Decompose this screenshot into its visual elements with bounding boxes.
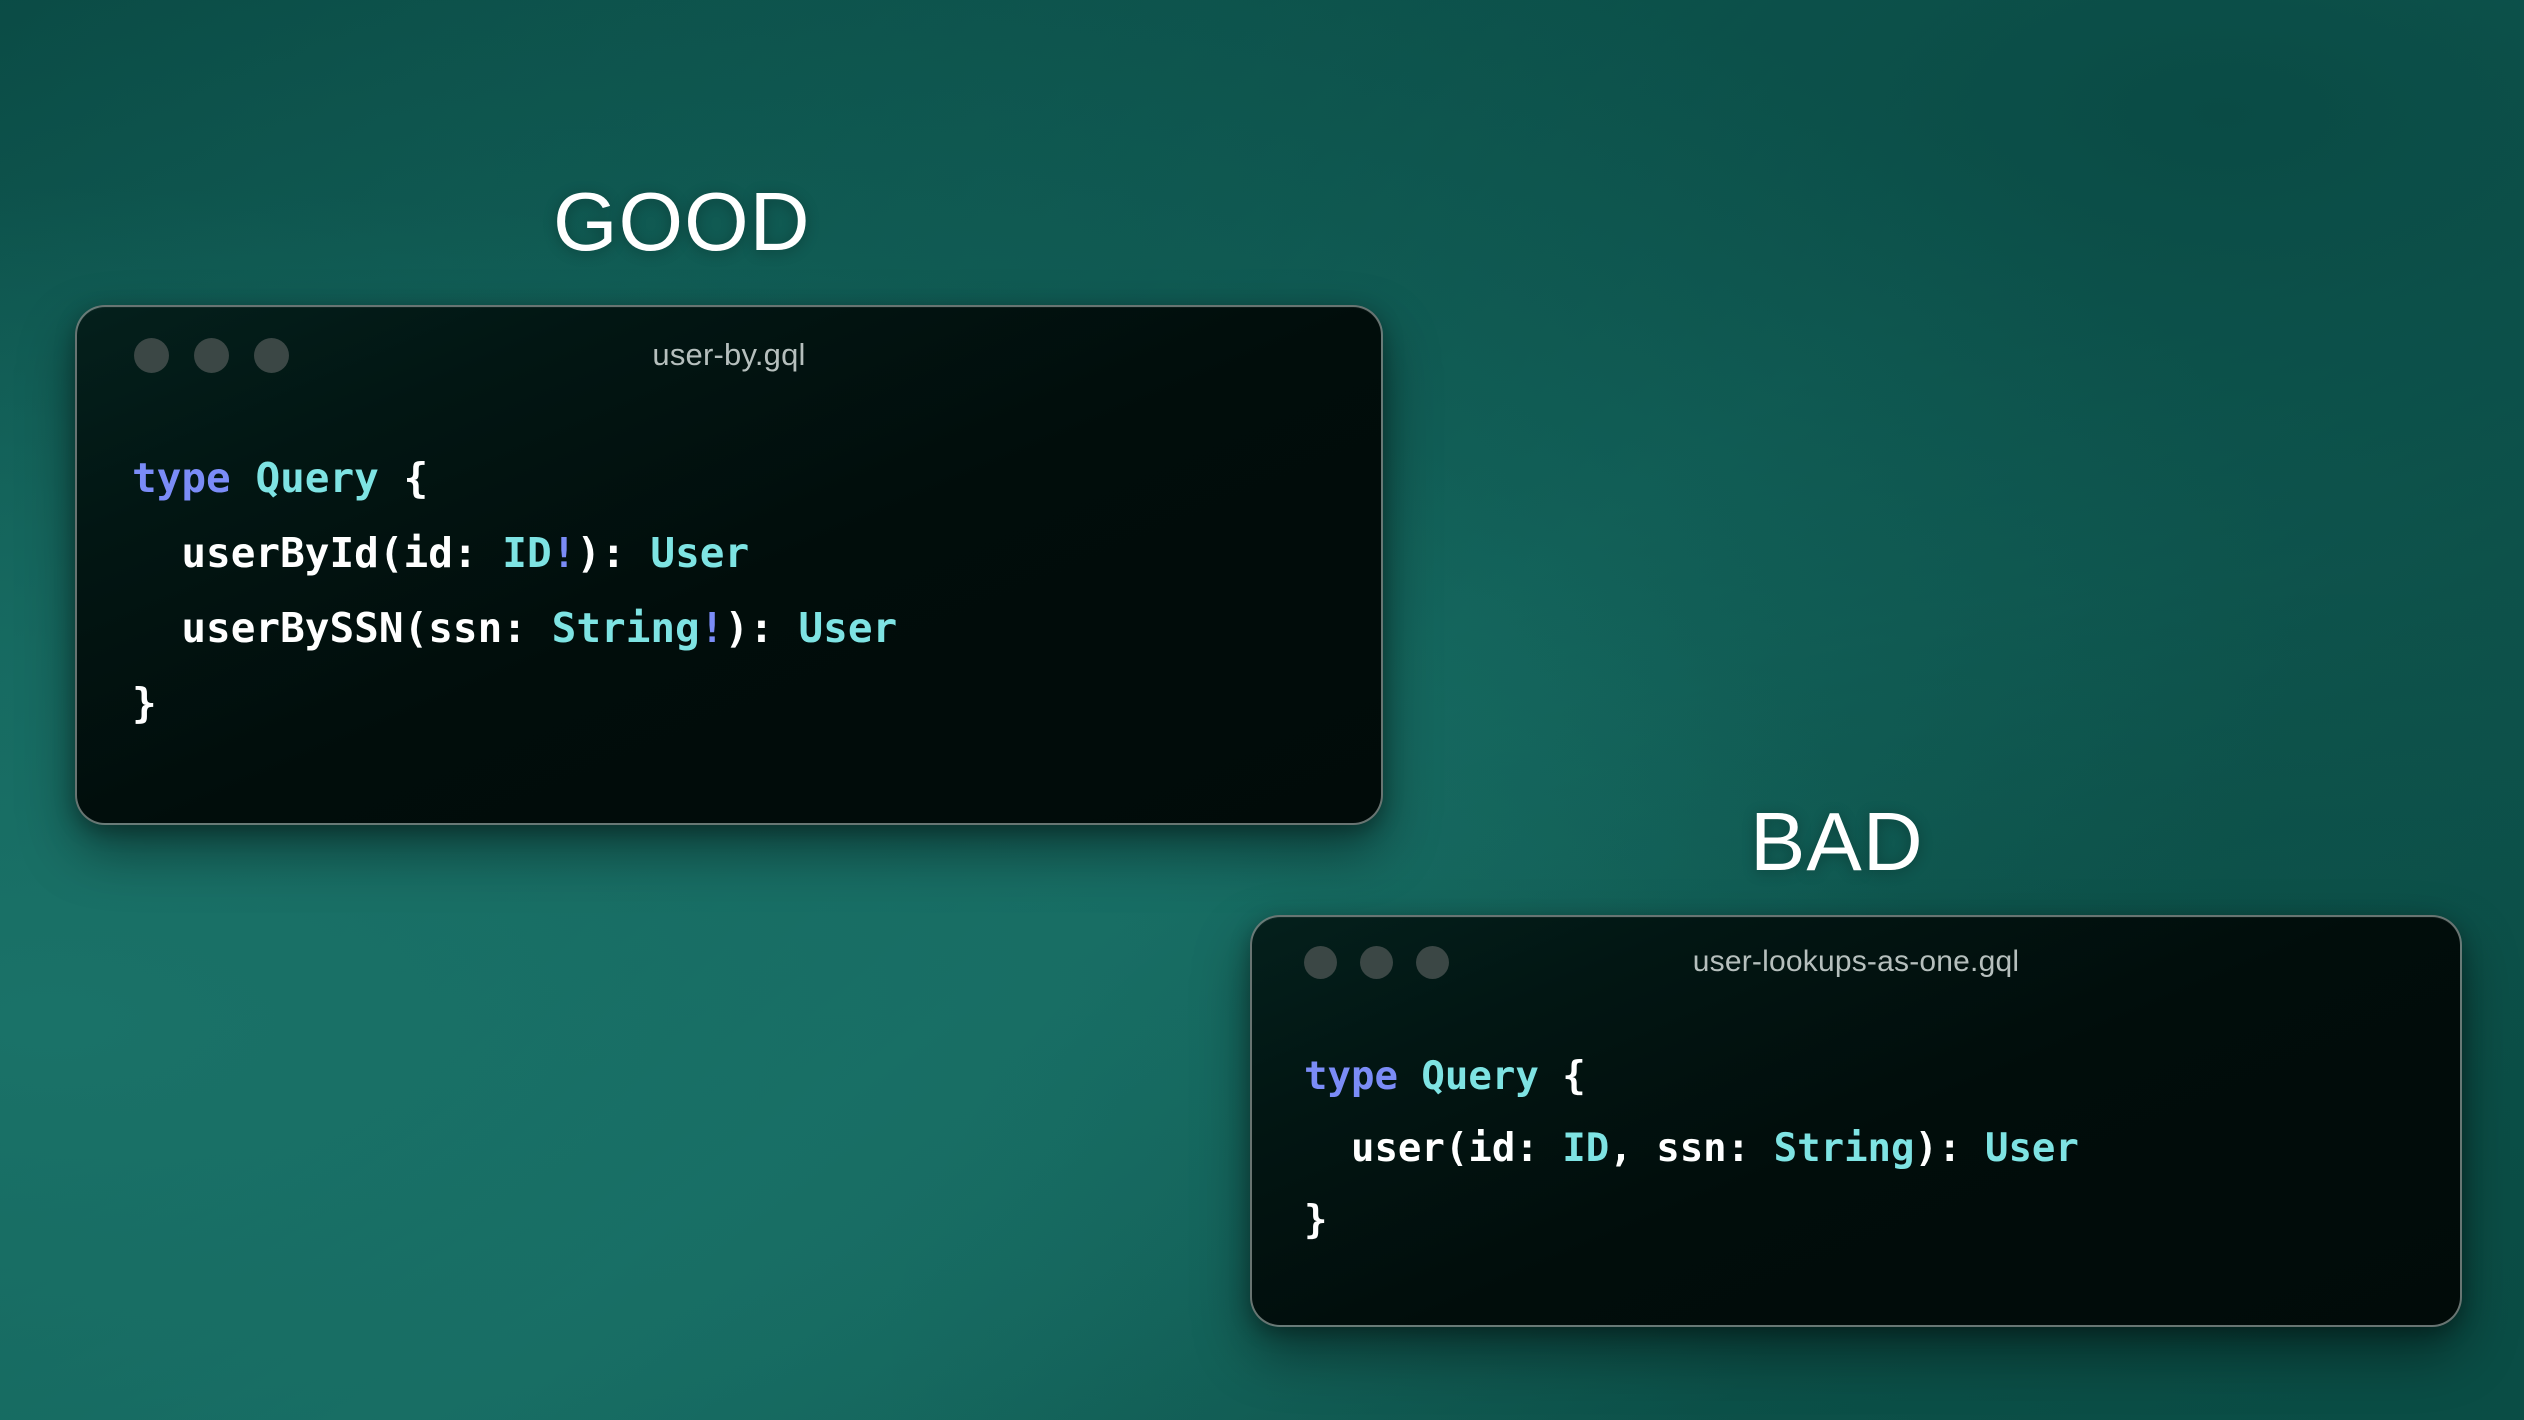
code-token: ):: [724, 604, 798, 652]
code-line: userById(id: ID!): User: [132, 516, 1381, 591]
code-token: userById(id:: [132, 529, 502, 577]
code-token: ID: [502, 529, 551, 577]
code-token: User: [1985, 1126, 2079, 1171]
code-token: type: [1304, 1054, 1398, 1099]
code-token: , ssn:: [1609, 1126, 1773, 1171]
code-token: [1398, 1054, 1421, 1099]
code-line: type Query {: [132, 441, 1381, 516]
code-token: Query: [255, 454, 378, 502]
code-line: userBySSN(ssn: String!): User: [132, 591, 1381, 666]
code-line: user(id: ID, ssn: String): User: [1304, 1113, 2460, 1185]
code-window-good[interactable]: user-by.gql type Query { userById(id: ID…: [75, 305, 1383, 825]
code-line: }: [132, 666, 1381, 741]
code-token: user(id:: [1304, 1126, 1562, 1171]
code-block-bad[interactable]: type Query { user(id: ID, ssn: String): …: [1252, 1007, 2460, 1257]
code-token: {: [1539, 1054, 1586, 1099]
code-line: type Query {: [1304, 1041, 2460, 1113]
minimize-dot-icon[interactable]: [194, 338, 229, 373]
maximize-dot-icon[interactable]: [1416, 946, 1449, 979]
code-token: ):: [576, 529, 650, 577]
window-controls: [134, 338, 289, 373]
code-token: Query: [1421, 1054, 1538, 1099]
code-line: }: [1304, 1185, 2460, 1257]
window-controls: [1304, 946, 1449, 979]
minimize-dot-icon[interactable]: [1360, 946, 1393, 979]
window-title-bar: user-by.gql: [77, 307, 1381, 403]
code-token: String: [1774, 1126, 1915, 1171]
code-token: User: [799, 604, 898, 652]
good-example-label: GOOD: [553, 180, 811, 263]
code-token: }: [132, 679, 157, 727]
code-token: String: [552, 604, 700, 652]
maximize-dot-icon[interactable]: [254, 338, 289, 373]
code-token: !: [552, 529, 577, 577]
code-token: userBySSN(ssn:: [132, 604, 552, 652]
code-token: }: [1304, 1198, 1327, 1243]
close-dot-icon[interactable]: [1304, 946, 1337, 979]
code-token: ID: [1562, 1126, 1609, 1171]
code-token: {: [379, 454, 428, 502]
window-title-bar: user-lookups-as-one.gql: [1252, 917, 2460, 1007]
code-token: User: [650, 529, 749, 577]
close-dot-icon[interactable]: [134, 338, 169, 373]
comparison-canvas: GOOD user-by.gql type Query { userById(i…: [0, 0, 2524, 1420]
code-token: !: [700, 604, 725, 652]
code-window-bad[interactable]: user-lookups-as-one.gql type Query { use…: [1250, 915, 2462, 1327]
bad-example-label: BAD: [1750, 800, 1924, 883]
code-token: type: [132, 454, 231, 502]
code-block-good[interactable]: type Query { userById(id: ID!): User use…: [77, 403, 1381, 741]
code-token: ):: [1915, 1126, 1985, 1171]
code-token: [231, 454, 256, 502]
